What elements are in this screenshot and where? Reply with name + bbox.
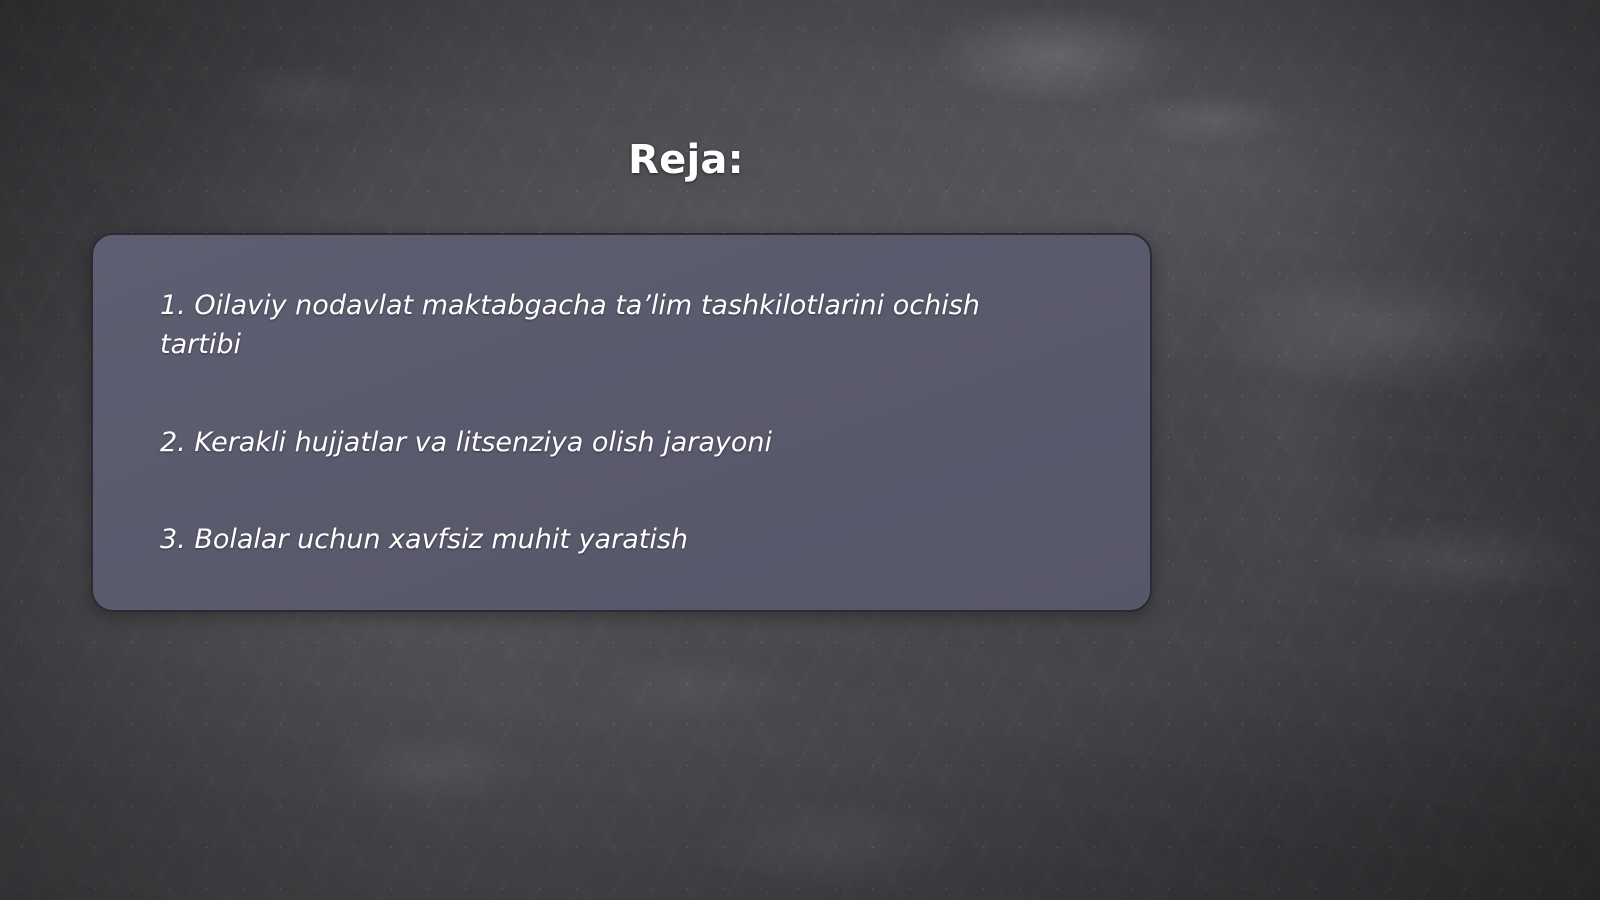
plan-list: 1. Oilaviy nodavlat maktabgacha ta’lim t… xyxy=(160,286,1060,559)
list-item: 2. Kerakli hujjatlar va litsenziya olish… xyxy=(160,423,1060,462)
list-item: 3. Bolalar uchun xavfsiz muhit yaratish xyxy=(160,520,1060,559)
presentation-slide: Reja: 1. Oilaviy nodavlat maktabgacha ta… xyxy=(0,0,1600,900)
plan-content-card: 1. Oilaviy nodavlat maktabgacha ta’lim t… xyxy=(91,233,1152,612)
list-item: 1. Oilaviy nodavlat maktabgacha ta’lim t… xyxy=(160,286,1060,364)
slide-title: Reja: xyxy=(0,136,1372,184)
